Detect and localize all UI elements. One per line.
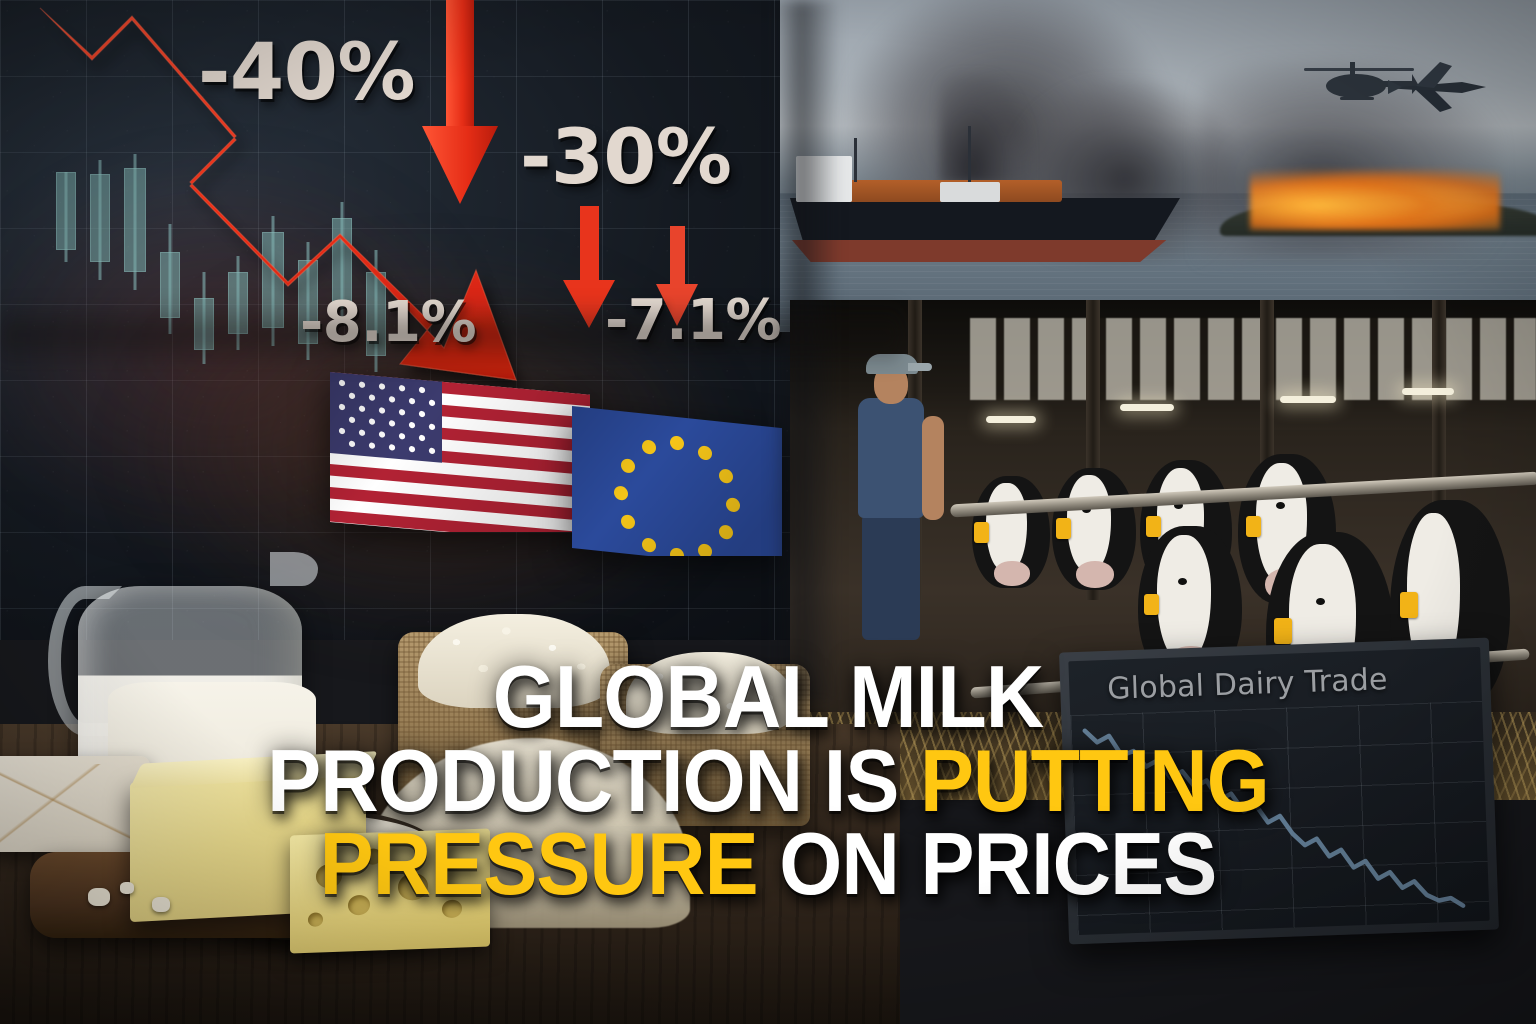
cargo-ship bbox=[790, 150, 1180, 268]
fire-icon bbox=[1250, 168, 1500, 230]
decline-label-7-1: -7.1% bbox=[605, 288, 781, 353]
cheese-hole bbox=[316, 864, 342, 889]
gdt-panel-title: Global Dairy Trade bbox=[1107, 662, 1388, 707]
ship-waterline bbox=[792, 240, 1166, 262]
cheese-crumb bbox=[152, 897, 170, 912]
cow-eye bbox=[1316, 598, 1325, 605]
cow bbox=[972, 476, 1050, 588]
cheese-hole bbox=[364, 848, 382, 865]
gdt-screen: Global Dairy Trade bbox=[1068, 647, 1489, 935]
cheese-hole bbox=[348, 895, 370, 916]
fighter-jet-icon bbox=[1382, 60, 1492, 114]
ship-bridge bbox=[940, 182, 1000, 202]
cheese-hole bbox=[442, 899, 462, 918]
gdt-trend-line bbox=[1085, 718, 1463, 919]
barn-lamp-icon bbox=[1120, 404, 1174, 411]
farmer-arm bbox=[922, 416, 944, 520]
barn-lamp-icon bbox=[1280, 396, 1336, 403]
cow bbox=[1052, 468, 1136, 590]
cheese-crumb bbox=[120, 882, 134, 894]
dairy-products-table bbox=[0, 470, 900, 1024]
farmer-cap bbox=[866, 354, 918, 374]
cow-muzzle bbox=[1076, 561, 1115, 588]
cheese-curds bbox=[626, 652, 794, 734]
swiss-cheese-wedge bbox=[290, 829, 490, 954]
cow-eye bbox=[1178, 578, 1187, 585]
cheese-hole bbox=[398, 873, 428, 901]
ear-tag bbox=[1400, 592, 1418, 618]
cow-face bbox=[1067, 475, 1111, 570]
ear-tag bbox=[1274, 618, 1292, 644]
decline-label-30: -30% bbox=[520, 112, 731, 201]
cheese-curds bbox=[418, 614, 610, 708]
ear-tag bbox=[1056, 518, 1071, 539]
ship-mast bbox=[968, 126, 971, 182]
jug-spout bbox=[270, 552, 318, 586]
ship-superstructure bbox=[796, 156, 852, 202]
ear-tag bbox=[1144, 594, 1159, 615]
cow-eye bbox=[1276, 502, 1285, 509]
global-dairy-trade-panel: Global Dairy Trade bbox=[1059, 638, 1499, 945]
cow-face bbox=[1157, 535, 1211, 658]
ear-tag bbox=[1246, 516, 1261, 537]
barn-lamp-icon bbox=[1402, 388, 1454, 395]
maritime-conflict-scene bbox=[780, 0, 1536, 332]
cow-face bbox=[986, 483, 1027, 570]
cheese-crumb bbox=[88, 888, 110, 906]
ship-mast bbox=[854, 138, 857, 182]
infographic-poster: -40% -30% -8.1% -7.1% bbox=[0, 0, 1536, 1024]
wrapped-cheese bbox=[0, 756, 150, 852]
barn-lamp-icon bbox=[986, 416, 1036, 423]
funnel-smoke bbox=[940, 74, 1030, 184]
cow-muzzle bbox=[994, 561, 1030, 586]
decline-label-8-1: -8.1% bbox=[300, 290, 476, 355]
ear-tag bbox=[974, 522, 989, 543]
down-arrow-large-icon bbox=[420, 0, 500, 210]
ear-tag bbox=[1146, 516, 1161, 537]
gdt-line-chart bbox=[1070, 699, 1487, 933]
decline-label-40: -40% bbox=[198, 28, 415, 118]
cheese-hole bbox=[308, 912, 323, 927]
